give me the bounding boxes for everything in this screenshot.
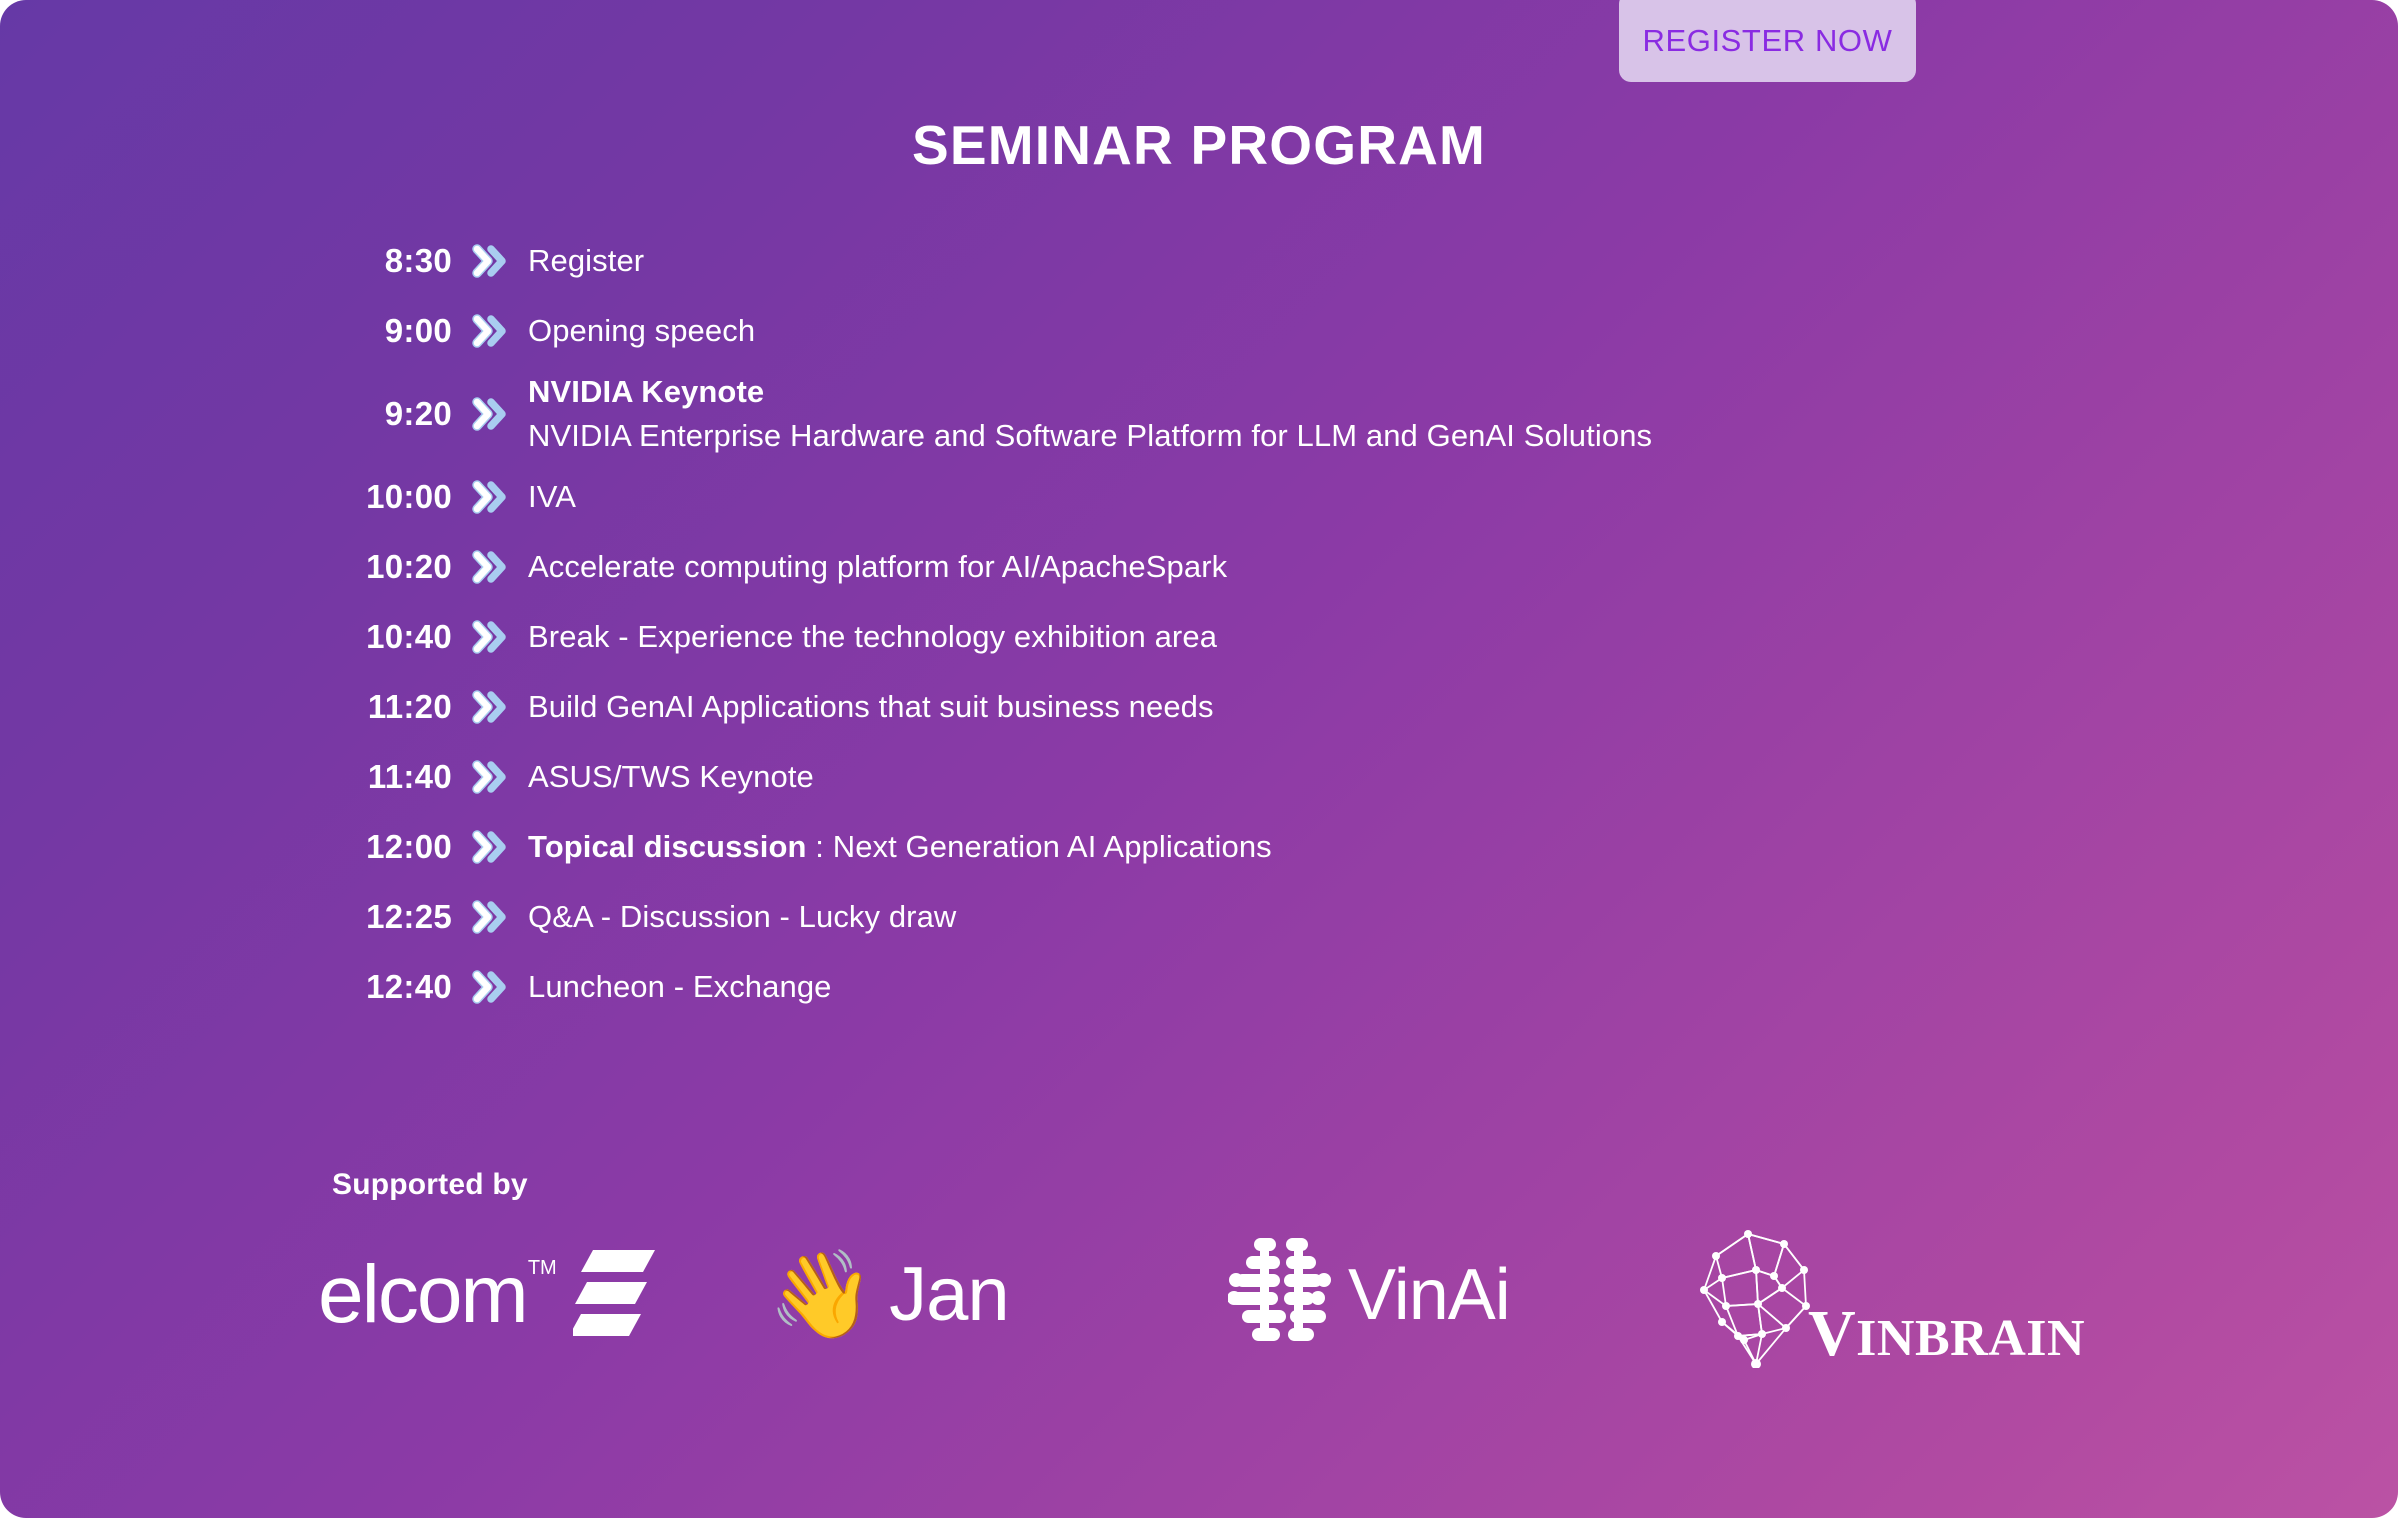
trademark-icon: TM [528, 1258, 557, 1278]
sponsor-logos: elcom TM 👋 Jan [300, 1215, 2160, 1375]
agenda-row: 12:00 Topical discussion : Next Generati… [330, 812, 2230, 882]
double-chevron-icon [452, 830, 528, 864]
agenda-row-title-bold: Topical discussion [528, 829, 807, 864]
double-chevron-icon [452, 244, 528, 278]
double-chevron-icon [452, 480, 528, 514]
agenda-row-title: Q&A - Discussion - Lucky draw [528, 899, 956, 934]
register-now-button[interactable]: REGISTER NOW [1619, 0, 1916, 82]
vinai-circuit-mark-icon [1228, 1234, 1332, 1357]
agenda-row-time: 9:20 [330, 395, 452, 433]
waving-hand-icon: 👋 [768, 1252, 875, 1338]
agenda-row: 9:00 Opening speech [330, 296, 2230, 366]
agenda-row: 10:20 Accelerate computing platform for … [330, 532, 2230, 602]
agenda-row-text: NVIDIA Keynote NVIDIA Enterprise Hardwar… [528, 372, 2230, 457]
vinbrain-wordmark-text: INBRAIN [1856, 1310, 2085, 1367]
jan-wordmark: Jan [889, 1257, 1009, 1333]
supported-by-label: Supported by [332, 1168, 528, 1202]
agenda-row-title: IVA [528, 479, 576, 514]
elcom-wordmark-text: elcom [318, 1249, 527, 1340]
vinbrain-initial: V [1808, 1297, 1856, 1370]
double-chevron-icon [452, 314, 528, 348]
agenda-row-title: Build GenAI Applications that suit busin… [528, 689, 1214, 724]
agenda-row-subtitle: NVIDIA Enterprise Hardware and Software … [528, 416, 2230, 456]
double-chevron-icon [452, 397, 528, 431]
agenda-row: 12:25 Q&A - Discussion - Lucky draw [330, 882, 2230, 952]
agenda-row-text: Register [528, 241, 2230, 281]
agenda-row-time: 12:25 [330, 898, 452, 936]
agenda-row-time: 10:00 [330, 478, 452, 516]
agenda-row-title: ASUS/TWS Keynote [528, 759, 814, 794]
agenda-row-title: Register [528, 243, 644, 278]
agenda-row-title: Opening speech [528, 313, 755, 348]
agenda-row-time: 10:20 [330, 548, 452, 586]
elcom-wordmark: elcom TM [318, 1254, 527, 1336]
agenda-row-time: 11:40 [330, 758, 452, 796]
agenda-row: 10:40 Break - Experience the technology … [330, 602, 2230, 672]
agenda-row-text: Accelerate computing platform for AI/Apa… [528, 547, 2230, 587]
agenda-row: 9:20 NVIDIA Keynote NVIDIA Enterprise Ha… [330, 366, 2230, 462]
double-chevron-icon [452, 550, 528, 584]
agenda-row-text: Topical discussion : Next Generation AI … [528, 827, 2230, 867]
sponsor-logo-vinbrain: VINBRAIN [1658, 1215, 2116, 1375]
agenda-row-title: Break - Experience the technology exhibi… [528, 619, 1217, 654]
agenda-row-time: 12:00 [330, 828, 452, 866]
sponsor-logo-vinai: VinAi [1198, 1215, 1658, 1375]
agenda-row-text: Build GenAI Applications that suit busin… [528, 687, 2230, 727]
agenda-row-text: Luncheon - Exchange [528, 967, 2230, 1007]
agenda-row-time: 9:00 [330, 312, 452, 350]
vinbrain-wordmark: VINBRAIN [1808, 1301, 2085, 1367]
agenda-row-text: ASUS/TWS Keynote [528, 757, 2230, 797]
agenda-row: 12:40 Luncheon - Exchange [330, 952, 2230, 1022]
double-chevron-icon [452, 620, 528, 654]
agenda-row: 11:40 ASUS/TWS Keynote [330, 742, 2230, 812]
agenda-row-text: Break - Experience the technology exhibi… [528, 617, 2230, 657]
agenda-row: 10:00 IVA [330, 462, 2230, 532]
seminar-program-slide: REGISTER NOW SEMINAR PROGRAM 8:30 Regist… [0, 0, 2398, 1518]
agenda-row-title: Luncheon - Exchange [528, 969, 832, 1004]
double-chevron-icon [452, 690, 528, 724]
agenda-row: 8:30 Register [330, 226, 2230, 296]
agenda-row-text: Q&A - Discussion - Lucky draw [528, 897, 2230, 937]
agenda-row-title: : Next Generation AI Applications [807, 829, 1272, 864]
agenda-row-time: 12:40 [330, 968, 452, 1006]
agenda-row-time: 11:20 [330, 688, 452, 726]
sponsor-logo-jan: 👋 Jan [748, 1215, 1198, 1375]
agenda-list: 8:30 Register 9:00 [330, 226, 2230, 1022]
agenda-row-time: 10:40 [330, 618, 452, 656]
elcom-e-mark-icon [573, 1250, 655, 1341]
double-chevron-icon [452, 760, 528, 794]
agenda-row-text: IVA [528, 477, 2230, 517]
agenda-row-title-bold: NVIDIA Keynote [528, 374, 764, 409]
page-title: SEMINAR PROGRAM [0, 113, 2398, 177]
double-chevron-icon [452, 970, 528, 1004]
agenda-row-time: 8:30 [330, 242, 452, 280]
vinai-wordmark: VinAi [1348, 1259, 1510, 1331]
agenda-row-title: Accelerate computing platform for AI/Apa… [528, 549, 1227, 584]
agenda-row: 11:20 Build GenAI Applications that suit… [330, 672, 2230, 742]
double-chevron-icon [452, 900, 528, 934]
agenda-row-text: Opening speech [528, 311, 2230, 351]
sponsor-logo-elcom: elcom TM [300, 1215, 748, 1375]
